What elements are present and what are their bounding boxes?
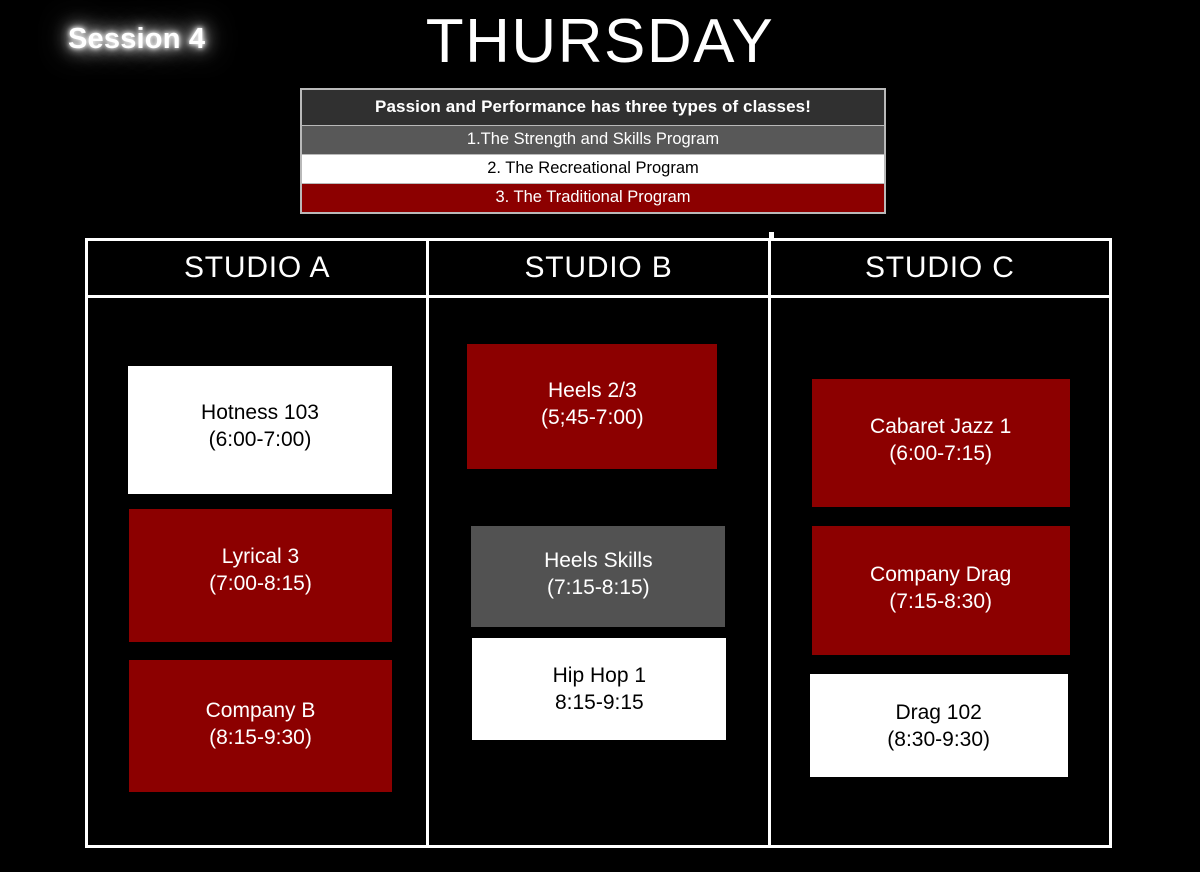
legend-row-traditional: 3. The Traditional Program — [302, 183, 884, 212]
class-time: (7:15-8:15) — [547, 575, 650, 602]
legend-header: Passion and Performance has three types … — [302, 90, 884, 125]
class-block-company-drag[interactable]: Company Drag (7:15-8:30) — [812, 526, 1070, 655]
class-block-heels-skills[interactable]: Heels Skills (7:15-8:15) — [471, 526, 725, 627]
class-name: Lyrical 3 — [222, 544, 299, 571]
program-types-legend: Passion and Performance has three types … — [300, 88, 886, 214]
studio-body-c: Cabaret Jazz 1 (6:00-7:15) Company Drag … — [771, 298, 1109, 845]
class-name: Heels Skills — [544, 548, 653, 575]
class-name: Drag 102 — [895, 700, 981, 727]
class-name: Heels 2/3 — [548, 378, 637, 405]
class-time: 8:15-9:15 — [555, 690, 644, 717]
class-name: Hotness 103 — [201, 400, 319, 427]
studio-header-c: STUDIO C — [771, 241, 1109, 298]
class-name: Company B — [206, 698, 316, 725]
legend-row-recreational: 2. The Recreational Program — [302, 154, 884, 183]
class-name: Cabaret Jazz 1 — [870, 414, 1011, 441]
studio-column-b: STUDIO B Heels 2/3 (5;45-7:00) Heels Ski… — [426, 241, 767, 845]
class-block-heels-2-3[interactable]: Heels 2/3 (5;45-7:00) — [467, 344, 717, 469]
class-block-company-b[interactable]: Company B (8:15-9:30) — [129, 660, 392, 792]
class-block-drag-102[interactable]: Drag 102 (8:30-9:30) — [810, 674, 1068, 777]
class-time: (7:15-8:30) — [889, 589, 992, 616]
class-time: (8:30-9:30) — [887, 727, 990, 754]
class-block-lyrical-3[interactable]: Lyrical 3 (7:00-8:15) — [129, 509, 392, 642]
class-name: Hip Hop 1 — [553, 663, 646, 690]
class-block-cabaret-jazz-1[interactable]: Cabaret Jazz 1 (6:00-7:15) — [812, 379, 1070, 507]
class-time: (7:00-8:15) — [209, 571, 312, 598]
day-title: THURSDAY — [0, 6, 1200, 77]
studio-body-a: Hotness 103 (6:00-7:00) Lyrical 3 (7:00-… — [88, 298, 426, 845]
class-block-hip-hop-1[interactable]: Hip Hop 1 8:15-9:15 — [472, 638, 726, 740]
legend-row-strength-and-skills: 1.The Strength and Skills Program — [302, 125, 884, 154]
studio-body-b: Heels 2/3 (5;45-7:00) Heels Skills (7:15… — [429, 298, 767, 845]
studio-header-b: STUDIO B — [429, 241, 767, 298]
studio-header-a: STUDIO A — [88, 241, 426, 298]
class-time: (8:15-9:30) — [209, 725, 312, 752]
class-block-hotness-103[interactable]: Hotness 103 (6:00-7:00) — [128, 366, 392, 494]
class-time: (5;45-7:00) — [541, 405, 644, 432]
class-time: (6:00-7:00) — [209, 427, 312, 454]
class-time: (6:00-7:15) — [889, 441, 992, 468]
studio-column-a: STUDIO A Hotness 103 (6:00-7:00) Lyrical… — [88, 241, 426, 845]
schedule-table: STUDIO A Hotness 103 (6:00-7:00) Lyrical… — [85, 238, 1112, 848]
class-name: Company Drag — [870, 562, 1011, 589]
studio-column-c: STUDIO C Cabaret Jazz 1 (6:00-7:15) Comp… — [768, 241, 1109, 845]
